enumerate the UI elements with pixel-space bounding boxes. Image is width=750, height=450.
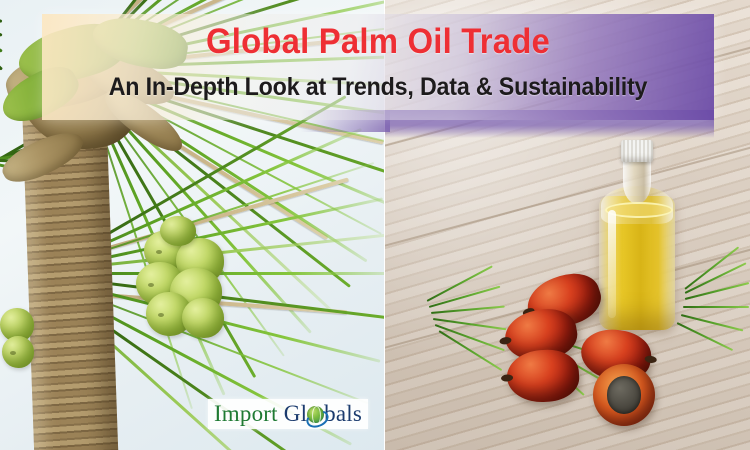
palm-oil-banner: Import Gl bals xyxy=(0,0,750,450)
globe-icon xyxy=(307,406,324,423)
logo-wordmark: Import Gl bals xyxy=(214,402,362,426)
bottle-highlight xyxy=(608,210,616,318)
palm-fruit-cut xyxy=(593,364,655,426)
palm-oil-bottle xyxy=(599,140,675,330)
page-title: Global Palm Oil Trade xyxy=(62,20,694,64)
coconut xyxy=(182,298,224,338)
coconut xyxy=(160,216,196,246)
coconut xyxy=(2,336,34,368)
page-subtitle: An In-Depth Look at Trends, Data & Susta… xyxy=(66,70,691,104)
bottle-cap xyxy=(621,140,653,162)
logo-word-import: Import xyxy=(214,402,278,426)
palm-sprig xyxy=(683,306,749,308)
logo-word-gl: Gl xyxy=(284,402,307,426)
import-globals-logo[interactable]: Import Gl bals xyxy=(208,399,368,429)
logo-word-bals: bals xyxy=(324,402,362,426)
